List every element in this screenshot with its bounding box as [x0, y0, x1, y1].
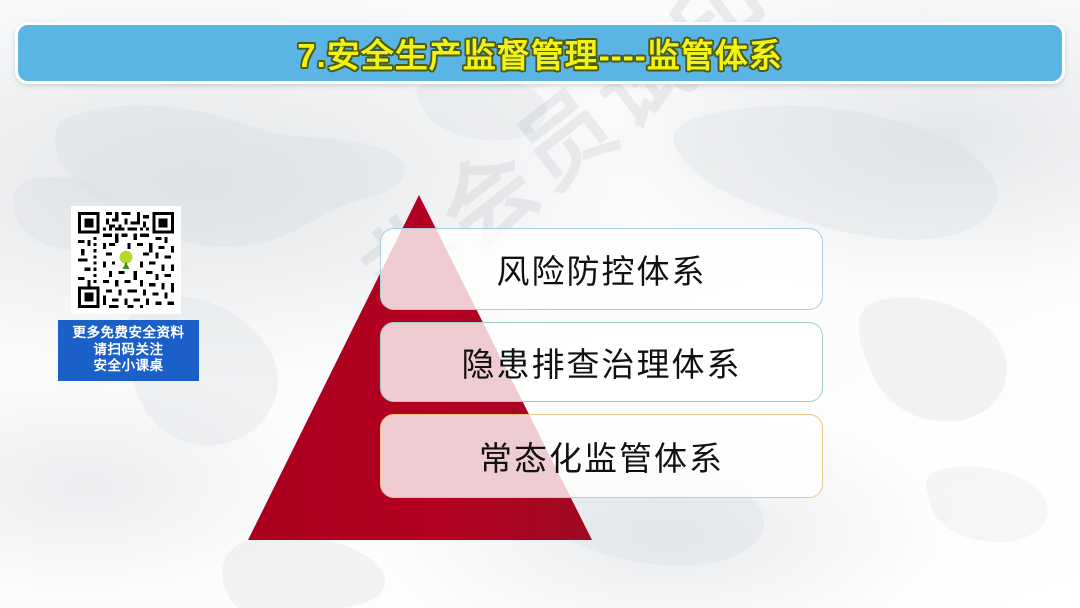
pyramid-level-label-3: 常态化监管体系: [479, 432, 724, 480]
qr-caption-line-1: 更多免费安全资料: [60, 325, 197, 342]
qr-caption-box: 更多免费安全资料 请扫码关注 安全小课桌: [58, 320, 199, 381]
slide-canvas: 非会员试印 7.安全生产监督管理----监管体系: [0, 0, 1080, 608]
qr-caption-line-2: 请扫码关注: [60, 342, 197, 359]
pyramid-level-label-1: 风险防控体系: [497, 245, 707, 293]
slide-title-bar: 7.安全生产监督管理----监管体系: [15, 22, 1065, 84]
pyramid-level-label-2: 隐患排查治理体系: [462, 338, 742, 386]
pyramid-level-box-3[interactable]: 常态化监管体系: [380, 414, 823, 498]
pyramid-level-box-2[interactable]: 隐患排查治理体系: [380, 322, 823, 402]
qr-code-icon[interactable]: [71, 206, 181, 314]
page-title: 7.安全生产监督管理----监管体系: [297, 29, 782, 77]
qr-caption-line-3: 安全小课桌: [60, 358, 197, 375]
qr-promo-block: 更多免费安全资料 请扫码关注 安全小课桌: [71, 206, 186, 381]
pyramid-level-box-1[interactable]: 风险防控体系: [380, 228, 823, 310]
